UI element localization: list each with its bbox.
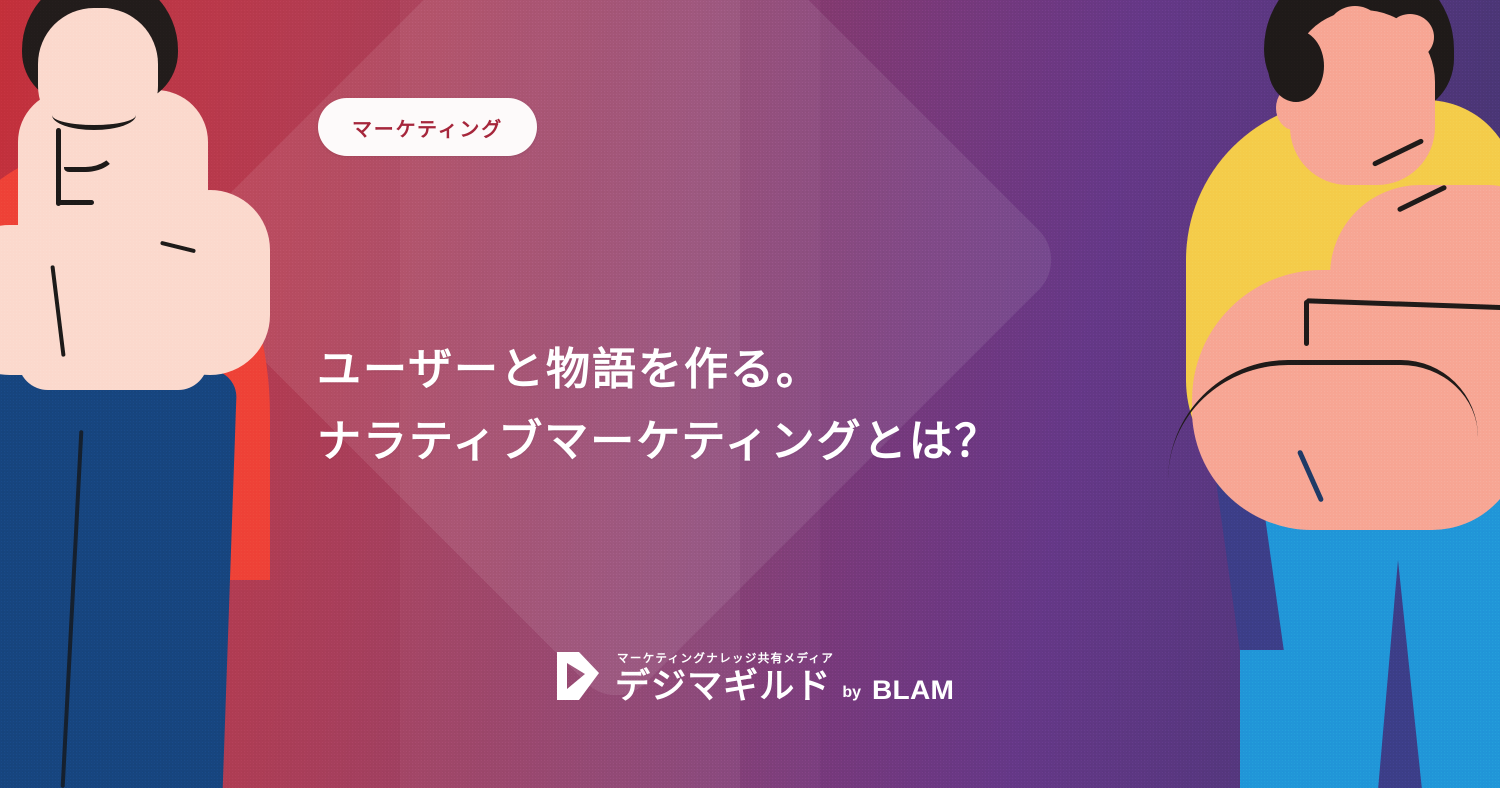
brand-logo[interactable]: マーケティングナレッジ共有メディア デジマギルド by BLAM (555, 650, 951, 704)
banner-image: マーケティング ユーザーと物語を作る。 ナラティブマーケティングとは？ マーケテ… (0, 0, 1500, 788)
title-line-2: ナラティブマーケティングとは？ (317, 406, 1217, 477)
logo-name: デジマギルド (615, 669, 831, 704)
category-badge-label: マーケティング (352, 113, 503, 142)
logo-by-label: by (842, 685, 861, 701)
logo-tagline: マーケティングナレッジ共有メディア (617, 650, 951, 666)
category-badge[interactable]: マーケティング (318, 98, 537, 156)
dejima-guild-play-mark-icon (555, 650, 601, 702)
page-title: ユーザーと物語を作る。 ナラティブマーケティングとは？ (317, 334, 1217, 477)
title-line-1: ユーザーと物語を作る。 (317, 334, 1217, 405)
logo-name-row: デジマギルド by BLAM (615, 669, 951, 704)
logo-text-block: マーケティングナレッジ共有メディア デジマギルド by BLAM (615, 650, 951, 704)
logo-parent-brand: BLAM (872, 677, 954, 704)
